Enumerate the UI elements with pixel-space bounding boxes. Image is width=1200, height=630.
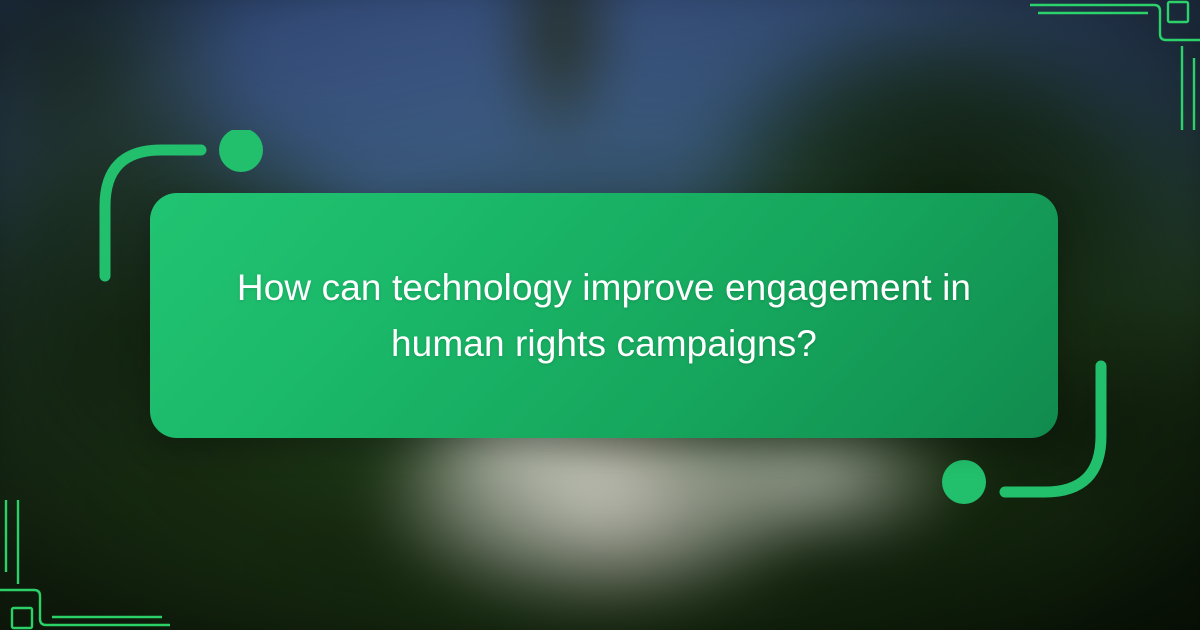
poster-canvas: How can technology improve engagement in…: [0, 0, 1200, 630]
quote-card: How can technology improve engagement in…: [150, 193, 1058, 438]
quote-text: How can technology improve engagement in…: [220, 260, 988, 370]
